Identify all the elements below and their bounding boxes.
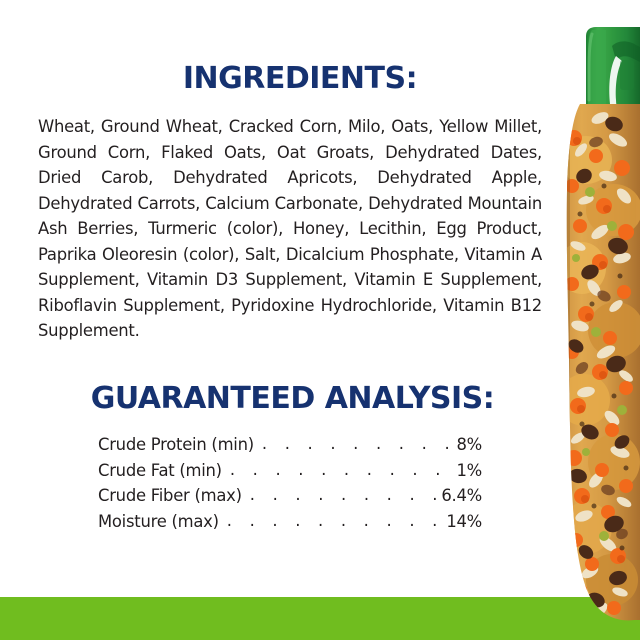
analysis-label: Crude Fat (min)	[98, 458, 222, 484]
guaranteed-analysis-heading: GUARANTEED ANALYSIS:	[0, 382, 585, 416]
analysis-label: Moisture (max)	[98, 509, 219, 535]
analysis-leader-dots: . . . . . . . . . . .	[250, 482, 438, 508]
ingredients-text: Wheat, Ground Wheat, Cracked Corn, Milo,…	[38, 114, 542, 344]
analysis-leader-dots: . . . . . . . . . . . .	[230, 457, 453, 483]
analysis-value: 6.4%	[441, 483, 482, 509]
analysis-label: Crude Fiber (max)	[98, 483, 242, 509]
seed-stick-illustration	[556, 0, 640, 640]
product-photo-seed-treat-stick	[556, 0, 640, 640]
analysis-row: Crude Fat (min) . . . . . . . . . . . . …	[98, 458, 482, 484]
analysis-leader-dots: . . . . . . . . . . .	[262, 431, 453, 457]
analysis-leader-dots: . . . . . . . . . . . .	[227, 508, 443, 534]
analysis-value: 8%	[456, 432, 482, 458]
seed-stick-body	[556, 100, 640, 630]
analysis-row: Crude Protein (min) . . . . . . . . . . …	[98, 432, 482, 458]
analysis-value: 1%	[456, 458, 482, 484]
analysis-label: Crude Protein (min)	[98, 432, 254, 458]
nutrition-panel: INGREDIENTS: Wheat, Ground Wheat, Cracke…	[0, 0, 640, 640]
analysis-row: Moisture (max) . . . . . . . . . . . . 1…	[98, 509, 482, 535]
analysis-value: 14%	[446, 509, 482, 535]
bottom-green-bar	[0, 597, 640, 640]
ingredients-heading: INGREDIENTS:	[0, 62, 600, 96]
analysis-row: Crude Fiber (max) . . . . . . . . . . . …	[98, 483, 482, 509]
guaranteed-analysis-table: Crude Protein (min) . . . . . . . . . . …	[98, 432, 482, 534]
